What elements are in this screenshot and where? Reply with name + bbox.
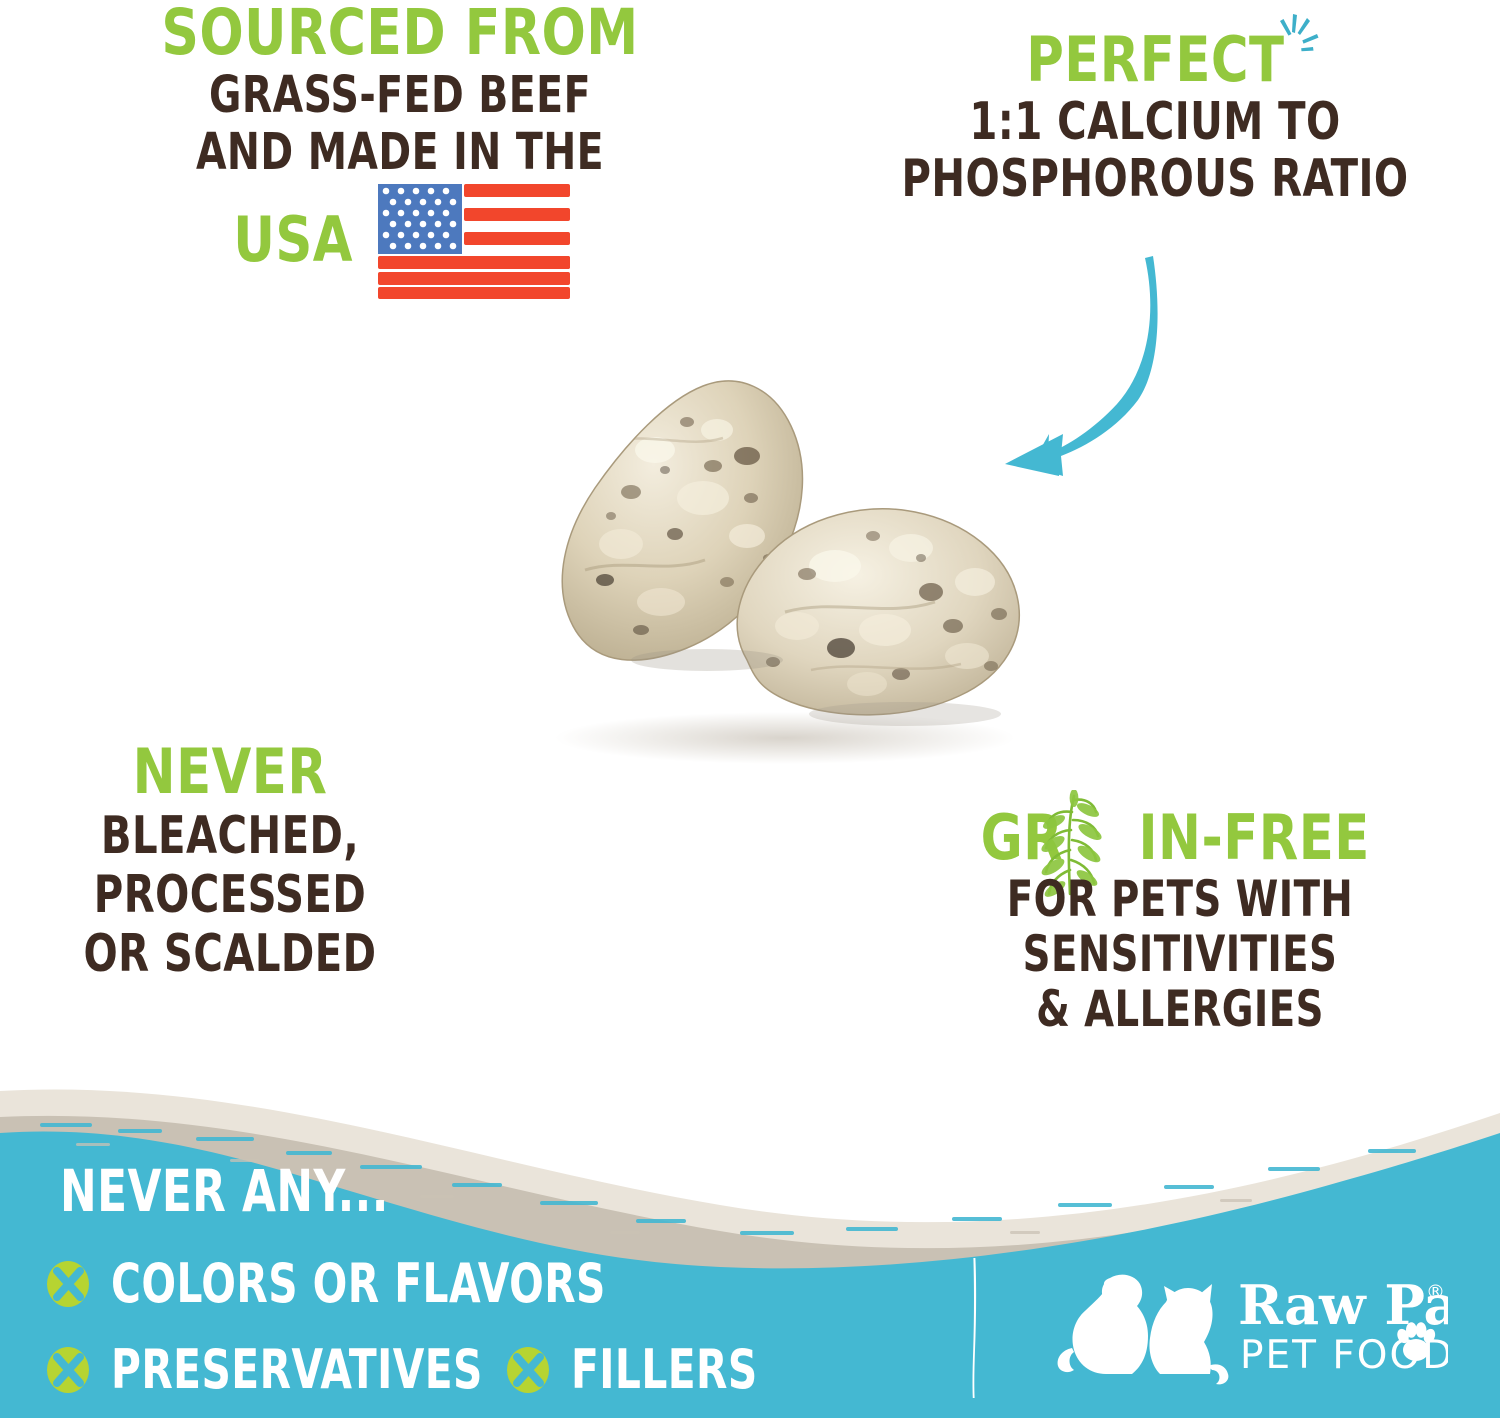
sourced-line-1: GRASS-FED BEEF xyxy=(108,71,693,121)
banner-item-preservatives: PRESERVATIVES xyxy=(45,1338,554,1401)
ratio-line-1: 1:1 CALCIUM TO xyxy=(876,97,1435,148)
banner-item-colors-or-flavors: COLORS OR FLAVORS xyxy=(45,1252,700,1315)
usa-flag-icon xyxy=(376,182,572,300)
dog-and-cat-silhouette-icon xyxy=(1058,1275,1229,1385)
ratio-line-2: PHOSPHOROUS RATIO xyxy=(876,154,1435,205)
sparkle-icon xyxy=(1263,8,1329,74)
ratio-headline: PERFECT xyxy=(1026,30,1284,91)
infographic-canvas: SOURCED FROM GRASS-FED BEEF AND MADE IN … xyxy=(0,0,1500,1418)
grain-free-headline-post: IN-FREE xyxy=(1080,808,1370,869)
freeze-dried-beef-treat-nuggets-photo xyxy=(455,330,1095,790)
feature-grain-free: GRIN-FREE xyxy=(920,808,1440,1034)
brand-logo: Raw Paws ® PET FOOD xyxy=(1048,1262,1448,1402)
grain-free-line-3: & ALLERGIES xyxy=(956,985,1403,1034)
banner-item-label: PRESERVATIVES xyxy=(111,1338,483,1401)
sourced-line-2: AND MADE IN THE xyxy=(108,128,693,178)
usa-row: USA xyxy=(60,182,740,300)
banner-item-fillers: FILLERS xyxy=(505,1338,793,1401)
never-headline: NEVER xyxy=(28,742,433,803)
x-badge-icon xyxy=(505,1346,551,1394)
grain-free-headline-row: GRIN-FREE xyxy=(920,808,1440,869)
feature-sourced-from: SOURCED FROM GRASS-FED BEEF AND MADE IN … xyxy=(60,2,740,300)
x-badge-icon xyxy=(45,1260,91,1308)
banner-title: NEVER ANY... xyxy=(60,1157,389,1225)
banner-item-label: COLORS OR FLAVORS xyxy=(111,1252,606,1315)
never-line-2: PROCESSED xyxy=(41,870,419,921)
x-badge-icon xyxy=(45,1346,91,1394)
grain-free-line-1: FOR PETS WITH xyxy=(956,875,1403,924)
feature-calcium-ratio: PERFECT 1:1 CALCIUM TO PHOSPHOROUS RATIO xyxy=(830,30,1480,205)
sourced-headline: SOURCED FROM xyxy=(87,2,713,64)
brand-registered-mark: ® xyxy=(1426,1281,1445,1303)
feature-never-bleached: NEVER BLEACHED, PROCESSED OR SCALDED xyxy=(10,742,450,980)
ratio-headline-wrap: PERFECT xyxy=(1015,30,1296,91)
never-line-1: BLEACHED, xyxy=(41,811,419,862)
never-line-3: OR SCALDED xyxy=(41,929,419,980)
usa-label: USA xyxy=(233,210,353,271)
vertical-brush-divider-icon xyxy=(972,1258,979,1398)
banner-item-label: FILLERS xyxy=(571,1338,758,1401)
grain-free-line-2: SENSITIVITIES xyxy=(956,930,1403,979)
